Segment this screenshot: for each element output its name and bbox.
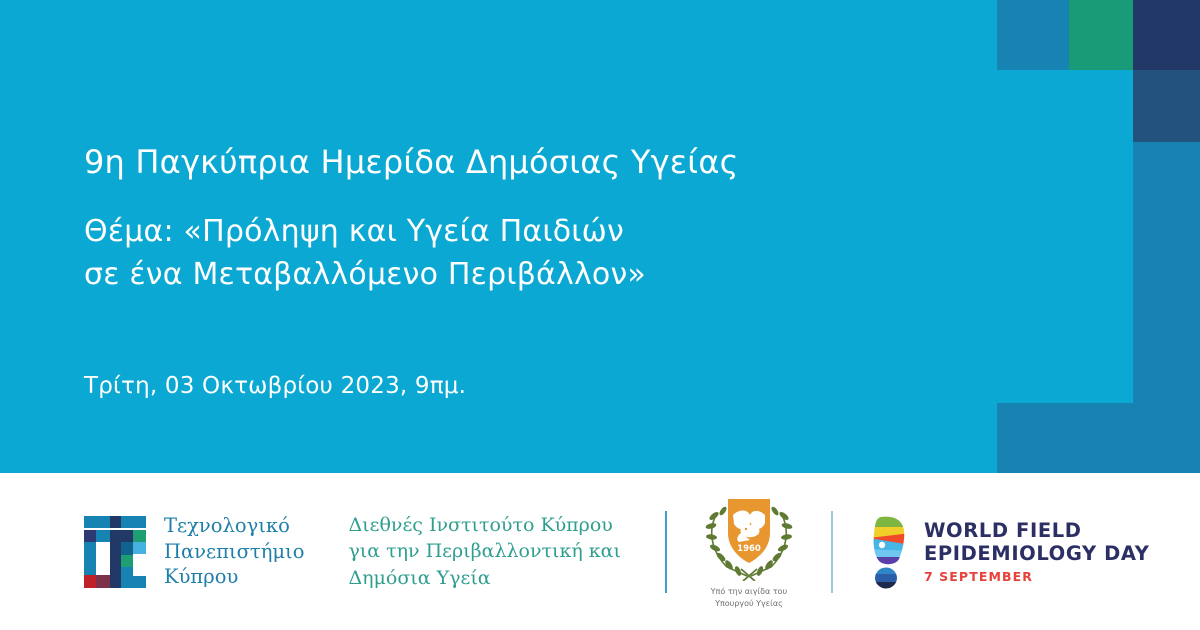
decor-block-navy-top-right [1133,0,1200,70]
hero-section: 9η Παγκύπρια Ημερίδα Δημόσιας Υγείας Θέμ… [0,0,1200,473]
footer-divider-1 [665,511,667,593]
world-field-epidemiology-day-lockup: WORLD FIELD EPIDEMIOLOGY DAY 7 SEPTEMBER [869,473,1150,630]
event-datetime: Τρίτη, 03 Οκτωβρίου 2023, 9πμ. [84,373,466,399]
decor-block-medium-blue-top [997,0,1069,70]
event-poster: 9η Παγκύπρια Ημερίδα Δημόσιας Υγείας Θέμ… [0,0,1200,630]
subtitle-line-2: σε ένα Μεταβαλλόμενο Περιβάλλον» [84,254,904,297]
arms-caption-line-1: Υπό την αιγίδα του [711,586,788,598]
page-title: 9η Παγκύπρια Ημερίδα Δημόσιας Υγείας [84,140,904,185]
subtitle-line-1: Θέμα: «Πρόληψη και Υγεία Παιδιών [84,211,904,254]
footer-logo-bar: Τεχνολογικό Πανεπιστήμιο Κύπρου Διεθνές … [0,473,1200,630]
tepak-name-line-1: Τεχνολογικό [164,513,304,539]
page-subtitle: Θέμα: «Πρόληψη και Υγεία Παιδιών σε ένα … [84,211,904,296]
tepak-name-line-3: Κύπρου [164,564,304,590]
cii-line-3: Δημόσια Υγεία [348,565,621,591]
decor-block-medium-blue-bottom [997,403,1200,473]
coat-of-arms-caption: Υπό την αιγίδα του Υπουργού Υγείας [711,586,788,609]
footer-divider-2 [831,511,833,593]
tepak-name: Τεχνολογικό Πανεπιστήμιο Κύπρου [164,513,304,591]
tepak-lockup: Τεχνολογικό Πανεπιστήμιο Κύπρου [84,473,304,630]
wfed-date: 7 SEPTEMBER [924,569,1150,584]
wfed-line-1: WORLD FIELD [924,519,1150,542]
footprint-icon [869,515,911,589]
cii-line-2: για την Περιβαλλοντική και [348,538,621,564]
wfed-text-group: WORLD FIELD EPIDEMIOLOGY DAY 7 SEPTEMBER [924,519,1150,584]
tepak-logo-mark [84,516,146,588]
decor-block-slate-right [1133,70,1200,142]
decor-block-teal-green-top [1069,0,1133,70]
cii-institute-name: Διεθνές Ινστιτούτο Κύπρου για την Περιβα… [348,512,621,591]
hero-text-group: 9η Παγκύπρια Ημερίδα Δημόσιας Υγείας Θέμ… [84,140,904,297]
wfed-line-2: EPIDEMIOLOGY DAY [924,542,1150,565]
arms-caption-line-2: Υπουργού Υγείας [711,598,788,610]
shield-year: 1960 [737,544,761,554]
cyprus-coat-of-arms: 1960 [703,493,795,581]
coat-of-arms-lockup: 1960 Υπό την αιγίδα του Υπουργού Υγείας [703,493,795,609]
cii-line-1: Διεθνές Ινστιτούτο Κύπρου [348,512,621,538]
tepak-name-line-2: Πανεπιστήμιο [164,539,304,565]
